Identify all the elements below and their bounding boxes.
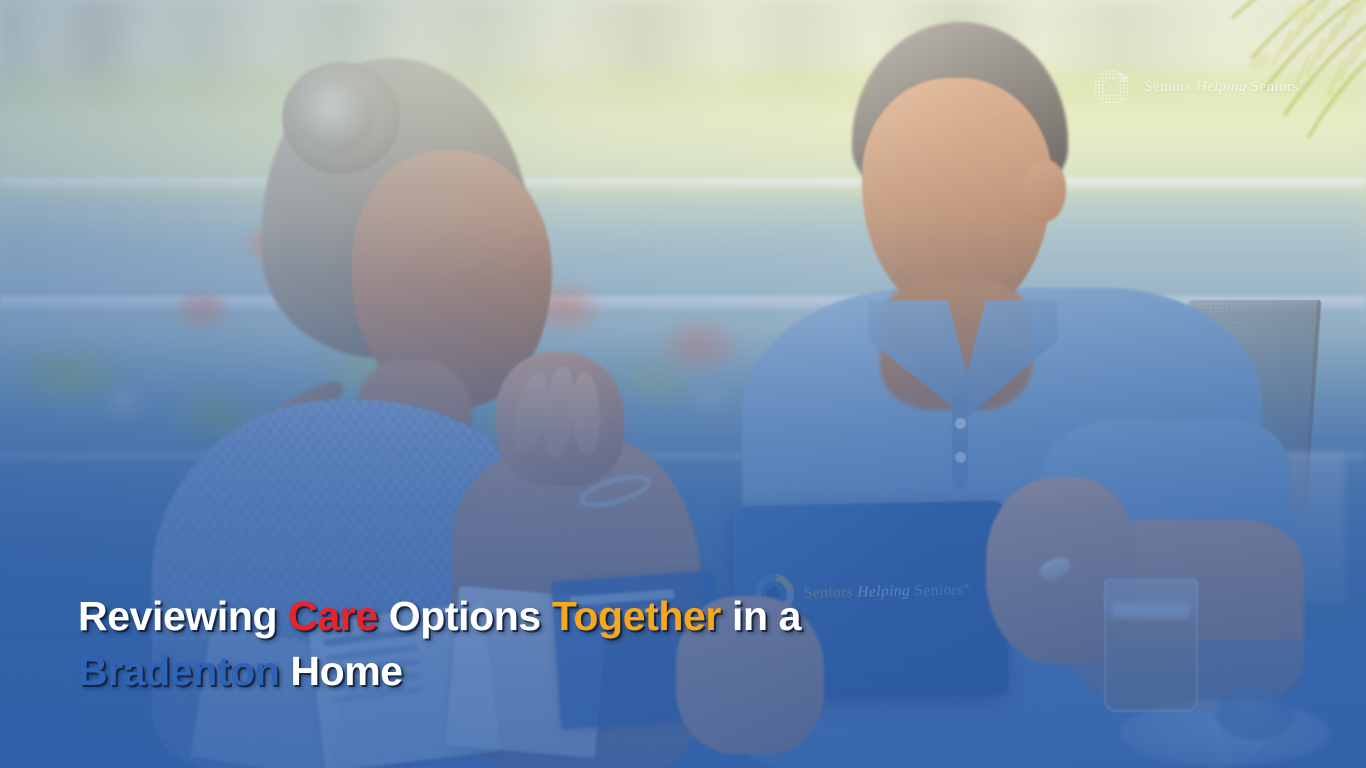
headline-seg-reviewing: Reviewing [78, 593, 288, 639]
railing-bar-top [0, 178, 1366, 189]
hero-headline: Reviewing Care Options Together in a Bra… [78, 589, 978, 701]
headline-seg-care: Care [288, 593, 378, 639]
headline-line-2: Bradenton Home [78, 644, 978, 700]
headline-seg-options: Options [378, 593, 552, 639]
man-shirt-placket [952, 392, 968, 488]
hero-banner: Seniors Helping Seniors® [0, 0, 1366, 768]
headline-seg-together: Together [552, 593, 721, 639]
man-shirt-button [955, 418, 966, 429]
iced-tea-glass [1104, 578, 1198, 712]
woman-hair-highlight [300, 82, 374, 152]
hibiscus-flower [174, 290, 230, 330]
headline-seg-in-a: in a [721, 593, 801, 639]
man-shirt-button [955, 452, 966, 463]
headline-seg-bradenton: Bradenton [78, 648, 279, 694]
man-ear [1022, 160, 1066, 222]
hibiscus-flower [660, 318, 738, 374]
headline-seg-home: Home [279, 648, 402, 694]
bread-roll [1216, 688, 1294, 740]
headline-line-1: Reviewing Care Options Together in a [78, 589, 978, 645]
